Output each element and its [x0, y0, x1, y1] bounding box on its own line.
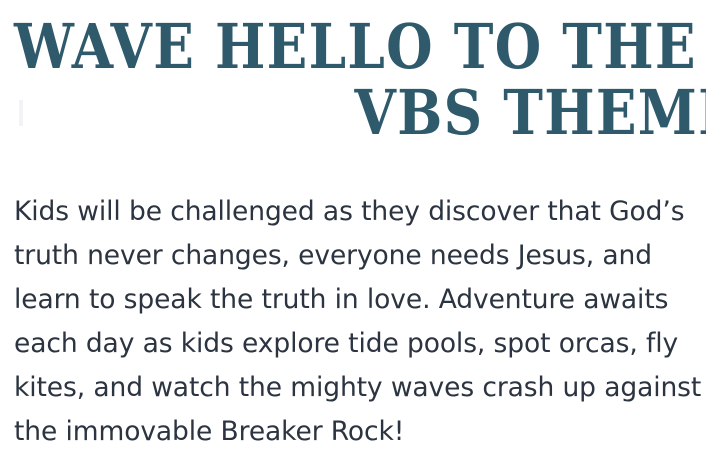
edge-artifact [19, 100, 23, 126]
page-title: WAVE HELLO TO THE VBS THEME! [14, 14, 686, 146]
page-title-line-1: WAVE HELLO TO THE [14, 14, 592, 80]
paragraph-line: truth never changes, everyone needs Jesu… [14, 234, 694, 278]
paragraph-line: the immovable Breaker Rock! [14, 410, 694, 454]
vbs-theme-promo-page: WAVE HELLO TO THE VBS THEME! Kids will b… [0, 0, 706, 476]
theme-description-paragraph: Kids will be challenged as they discover… [14, 190, 694, 454]
paragraph-line: each day as kids explore tide pools, spo… [14, 322, 694, 366]
paragraph-line: kites, and watch the mighty waves crash … [14, 366, 694, 410]
page-title-line-2: VBS THEME! [14, 80, 592, 146]
paragraph-line: Kids will be challenged as they discover… [14, 190, 694, 234]
paragraph-line: learn to speak the truth in love. Advent… [14, 278, 694, 322]
